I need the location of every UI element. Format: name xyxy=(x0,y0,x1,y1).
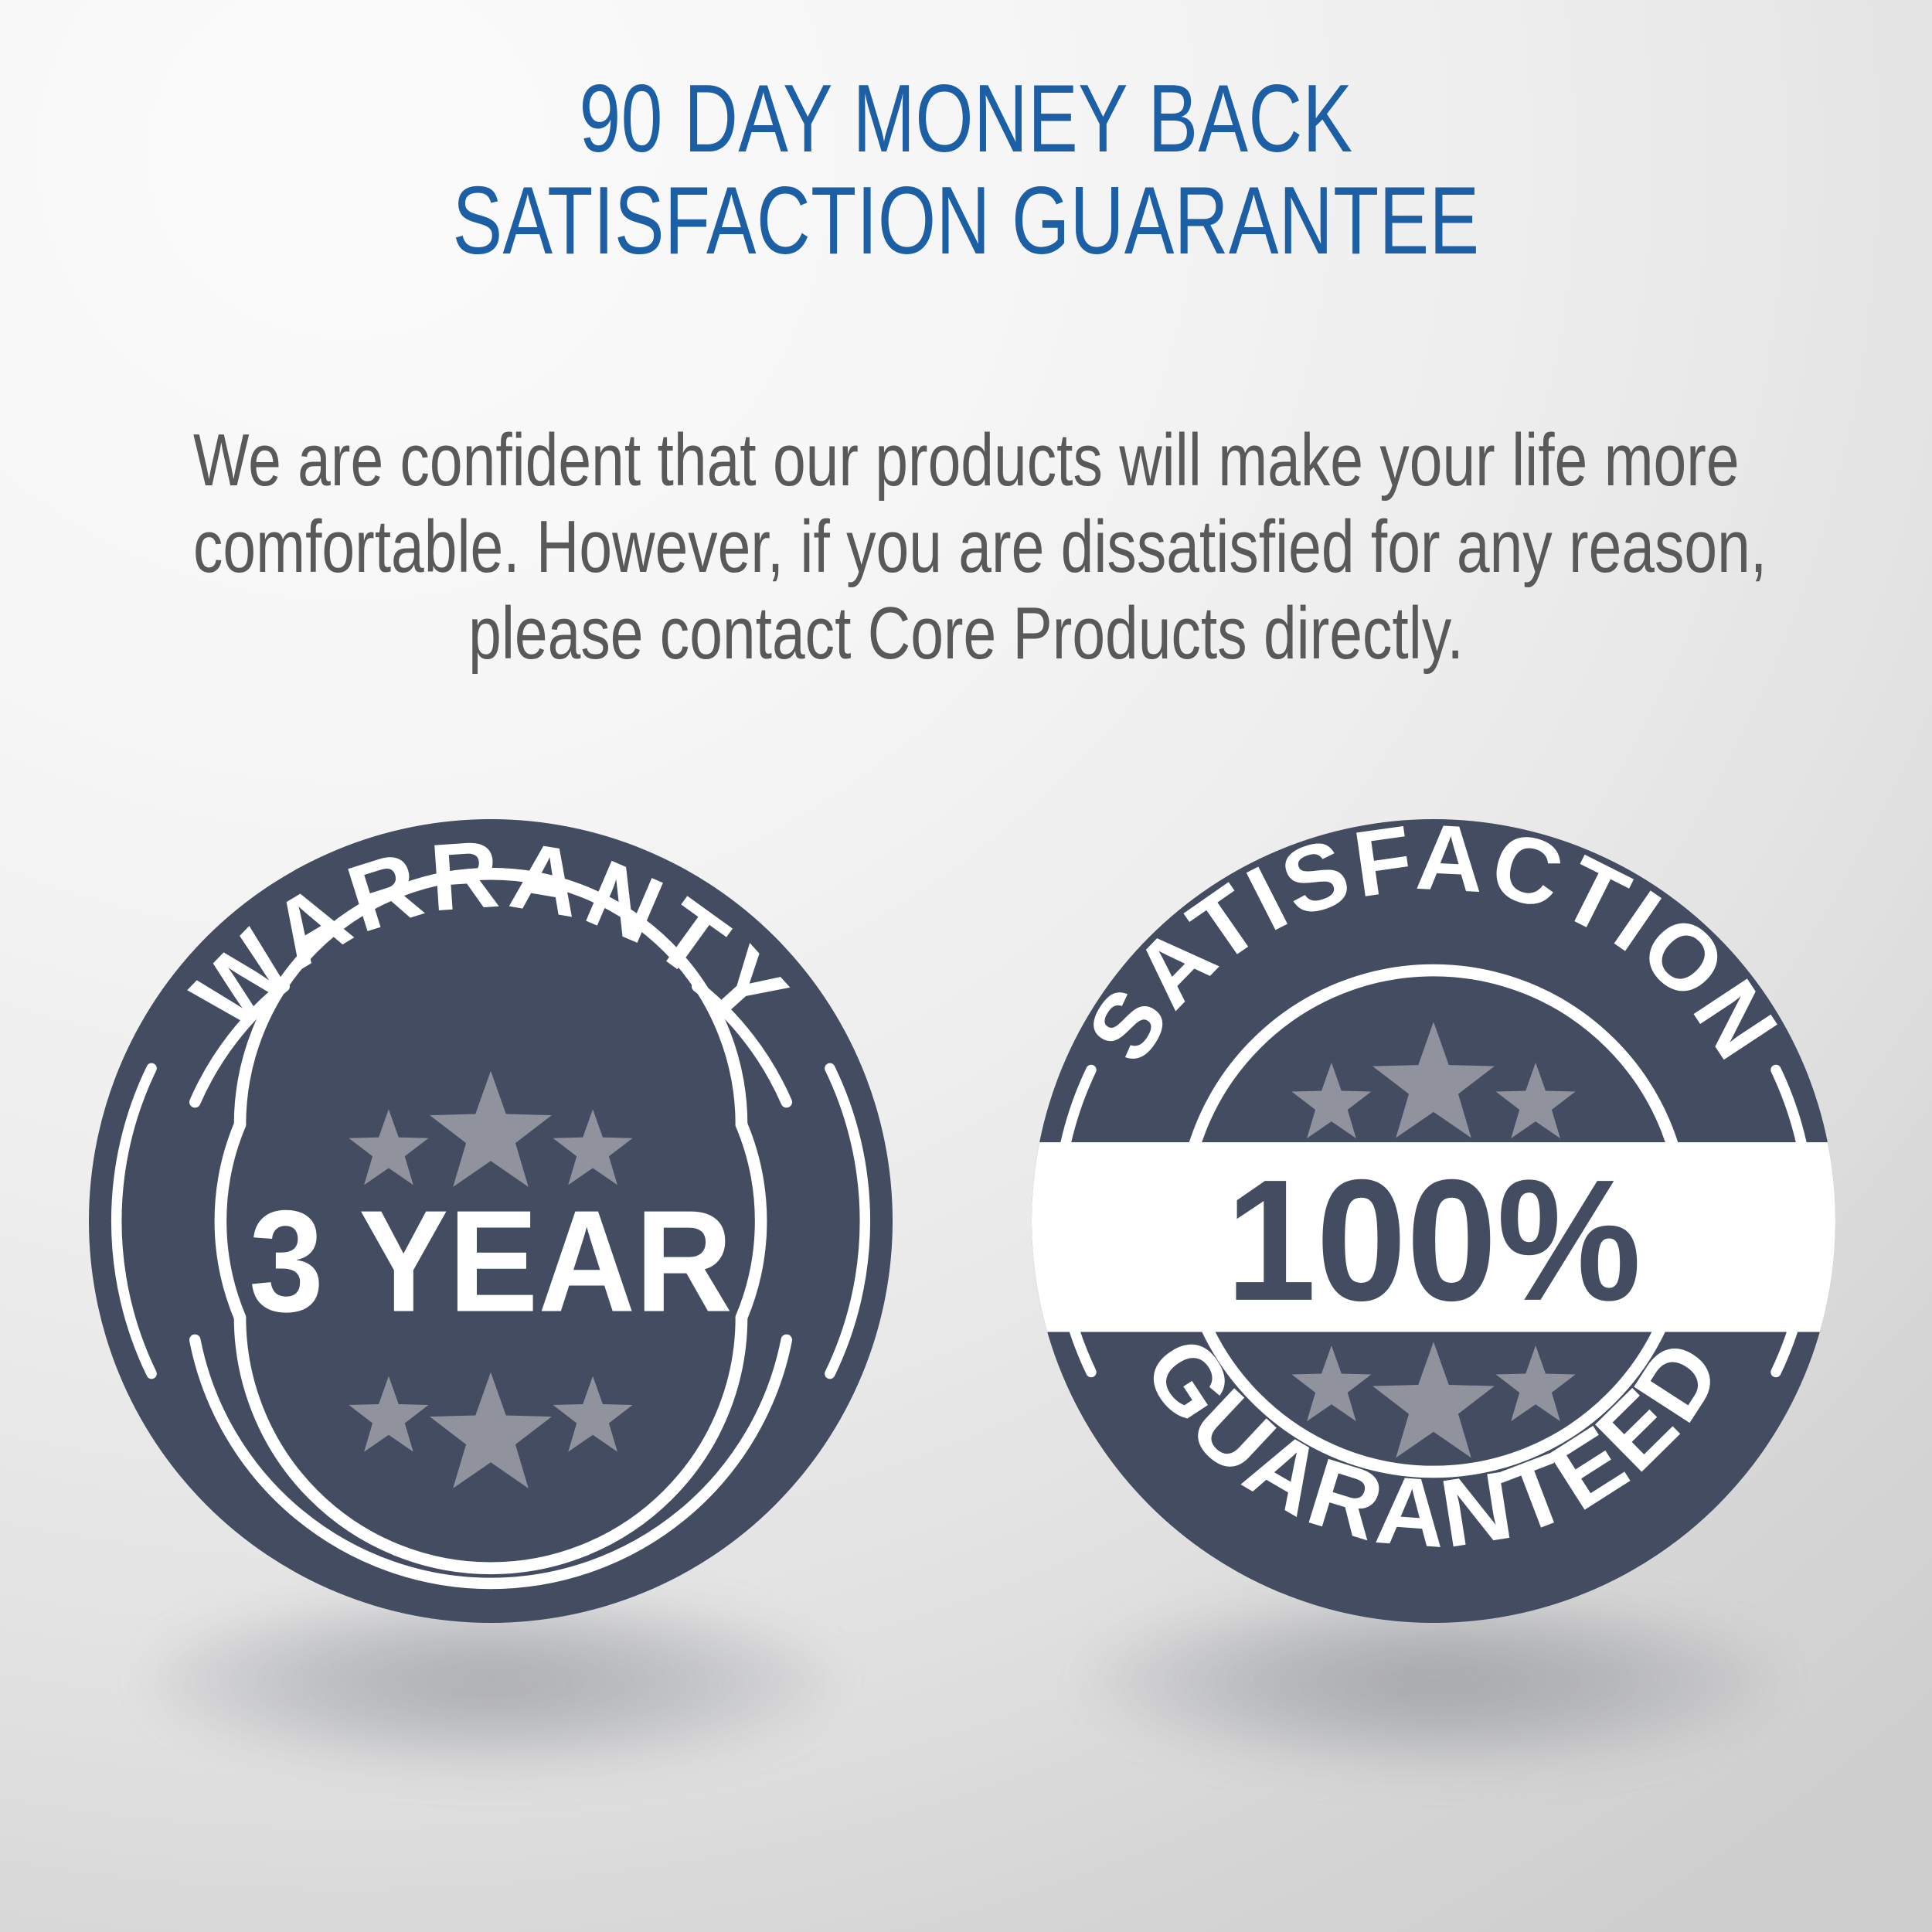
guarantee-graphic: 90 DAY MONEY BACK SATISFACTION GUARANTEE… xyxy=(0,0,1932,1932)
page-title-line-1: 90 DAY MONEY BACK xyxy=(213,68,1719,170)
satisfaction-badge: SATISFACTION GUARANTEED xyxy=(1012,819,1855,1716)
warranty-center-label: 3 YEAR xyxy=(249,1181,733,1342)
description-line-3: please contact Core Products directly. xyxy=(193,590,1739,677)
guarantee-description: We are confident that our products will … xyxy=(0,417,1932,677)
satisfaction-band-label: 100% xyxy=(1226,1144,1641,1336)
badge-row: WARRANTY 3 YEAR xyxy=(0,819,1932,1777)
description-line-2: comfortable. However, if you are dissati… xyxy=(193,504,1739,590)
satisfaction-badge-graphic: SATISFACTION GUARANTEED xyxy=(1032,819,1835,1623)
description-line-1: We are confident that our products will … xyxy=(193,417,1739,504)
page-header: 90 DAY MONEY BACK SATISFACTION GUARANTEE xyxy=(0,68,1932,272)
page-title-line-2: SATISFACTION GUARANTEE xyxy=(213,170,1719,272)
warranty-badge-graphic: WARRANTY 3 YEAR xyxy=(89,819,893,1623)
warranty-badge: WARRANTY 3 YEAR xyxy=(70,819,912,1716)
